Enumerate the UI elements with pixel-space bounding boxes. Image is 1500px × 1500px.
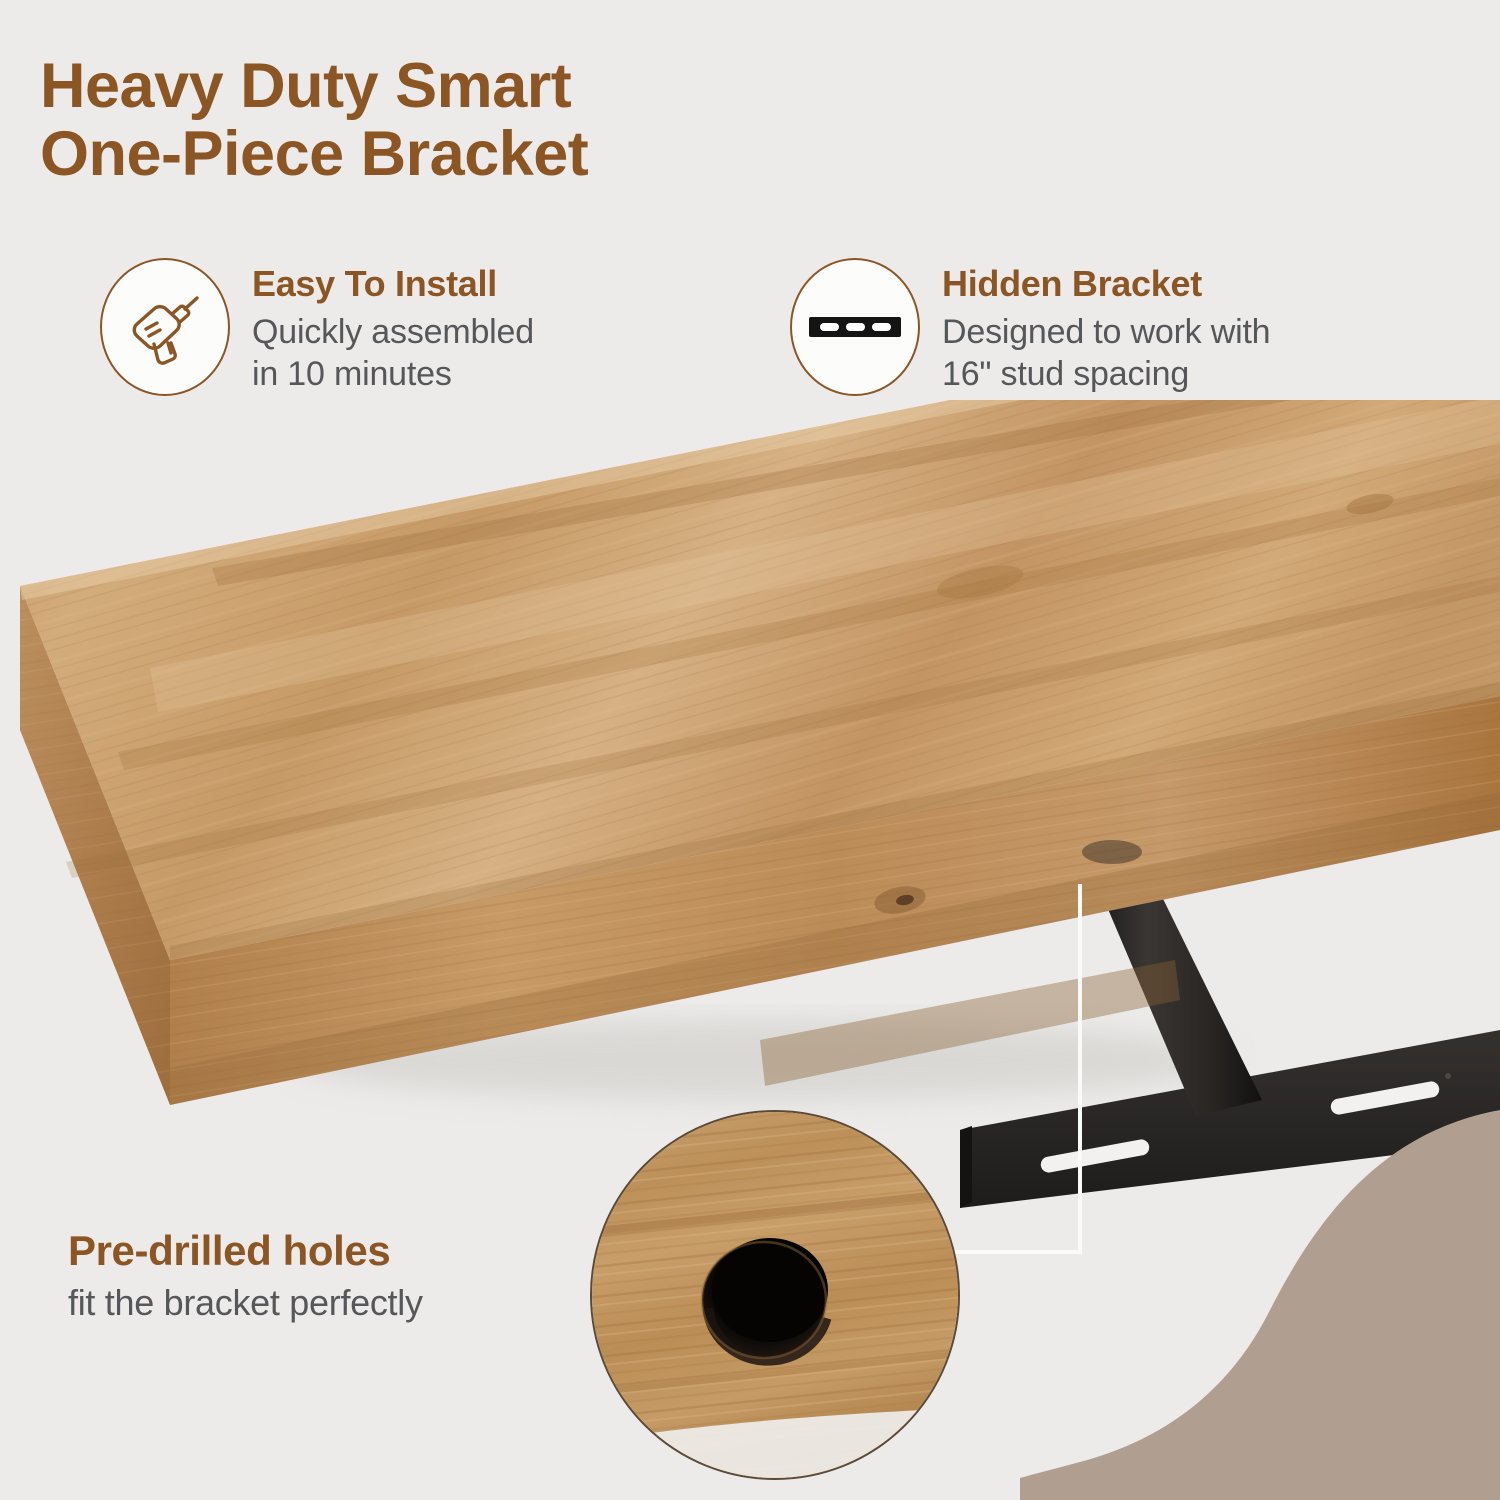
feature-title: Hidden Bracket [942, 264, 1270, 304]
feature-icon-circle [790, 258, 920, 396]
caption-description: fit the bracket perfectly [68, 1282, 423, 1324]
wall-bracket-icon [809, 317, 901, 337]
page-title: Heavy Duty Smart One-Piece Bracket [40, 52, 588, 188]
infographic-canvas: Heavy Duty Smart One-Piece Bracket [0, 0, 1500, 1500]
feature-description: Designed to work with 16" stud spacing [942, 311, 1270, 396]
drill-icon [124, 286, 206, 368]
callout-leader-line-vertical [1078, 884, 1082, 1254]
feature-description: Quickly assembled in 10 minutes [252, 311, 534, 396]
predrilled-hole-magnifier [590, 1110, 960, 1480]
predrilled-holes-caption: Pre-drilled holes fit the bracket perfec… [68, 1228, 423, 1324]
caption-title: Pre-drilled holes [68, 1228, 423, 1274]
feature-icon-circle [100, 258, 230, 396]
feature-easy-to-install: Easy To Install Quickly assembled in 10 … [100, 258, 534, 396]
decorative-blob [1020, 1070, 1500, 1500]
feature-title: Easy To Install [252, 264, 534, 304]
feature-hidden-bracket: Hidden Bracket Designed to work with 16"… [790, 258, 1270, 396]
